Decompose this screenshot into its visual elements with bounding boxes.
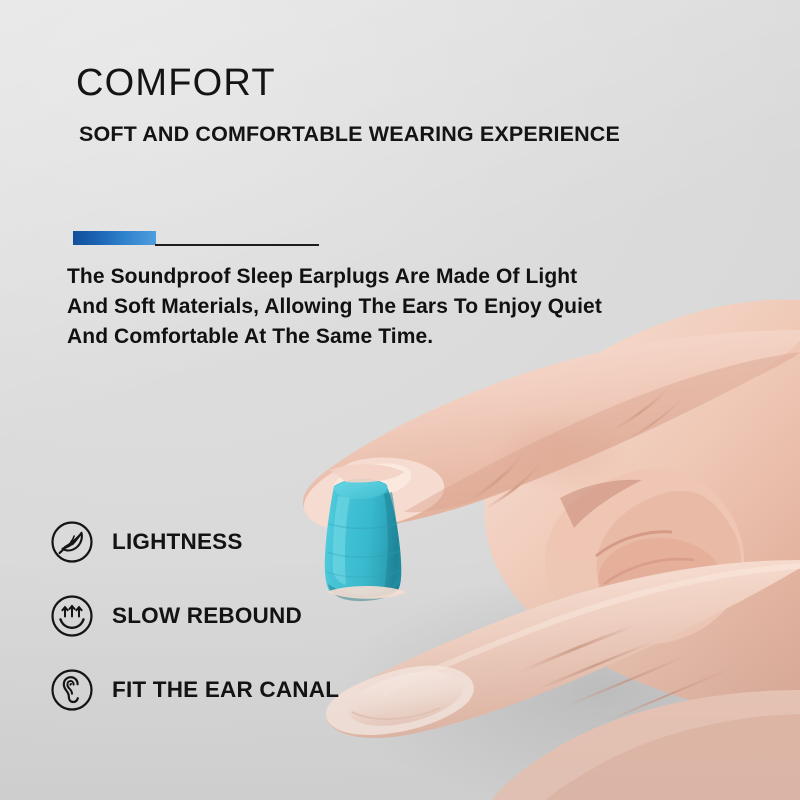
divider-rule bbox=[155, 244, 319, 246]
feather-icon bbox=[50, 520, 94, 564]
page-title: COMFORT bbox=[76, 64, 276, 102]
feature-item-fit-ear-canal: FIT THE EAR CANAL bbox=[50, 668, 380, 742]
ear-icon bbox=[50, 668, 94, 712]
body-line-1: The Soundproof Sleep Earplugs Are Made O… bbox=[67, 262, 677, 292]
body-line-2: And Soft Materials, Allowing The Ears To… bbox=[67, 292, 677, 322]
page-subtitle: SOFT AND COMFORTABLE WEARING EXPERIENCE bbox=[79, 124, 620, 146]
body-paragraph: The Soundproof Sleep Earplugs Are Made O… bbox=[67, 262, 677, 352]
section-divider bbox=[73, 231, 319, 247]
feature-item-slow-rebound: SLOW REBOUND bbox=[50, 594, 380, 668]
feature-label-lightness: LIGHTNESS bbox=[112, 527, 243, 557]
divider-gradient-bar bbox=[73, 231, 156, 245]
product-banner: COMFORT SOFT AND COMFORTABLE WEARING EXP… bbox=[0, 0, 800, 800]
feature-label-slow-rebound: SLOW REBOUND bbox=[112, 601, 302, 631]
feature-item-lightness: LIGHTNESS bbox=[50, 520, 380, 594]
feature-label-fit-ear-canal: FIT THE EAR CANAL bbox=[112, 675, 339, 705]
rebound-arrows-icon bbox=[50, 594, 94, 638]
feature-list: LIGHTNESS SLOW REBOUND bbox=[50, 520, 380, 742]
body-line-3: And Comfortable At The Same Time. bbox=[67, 322, 677, 352]
